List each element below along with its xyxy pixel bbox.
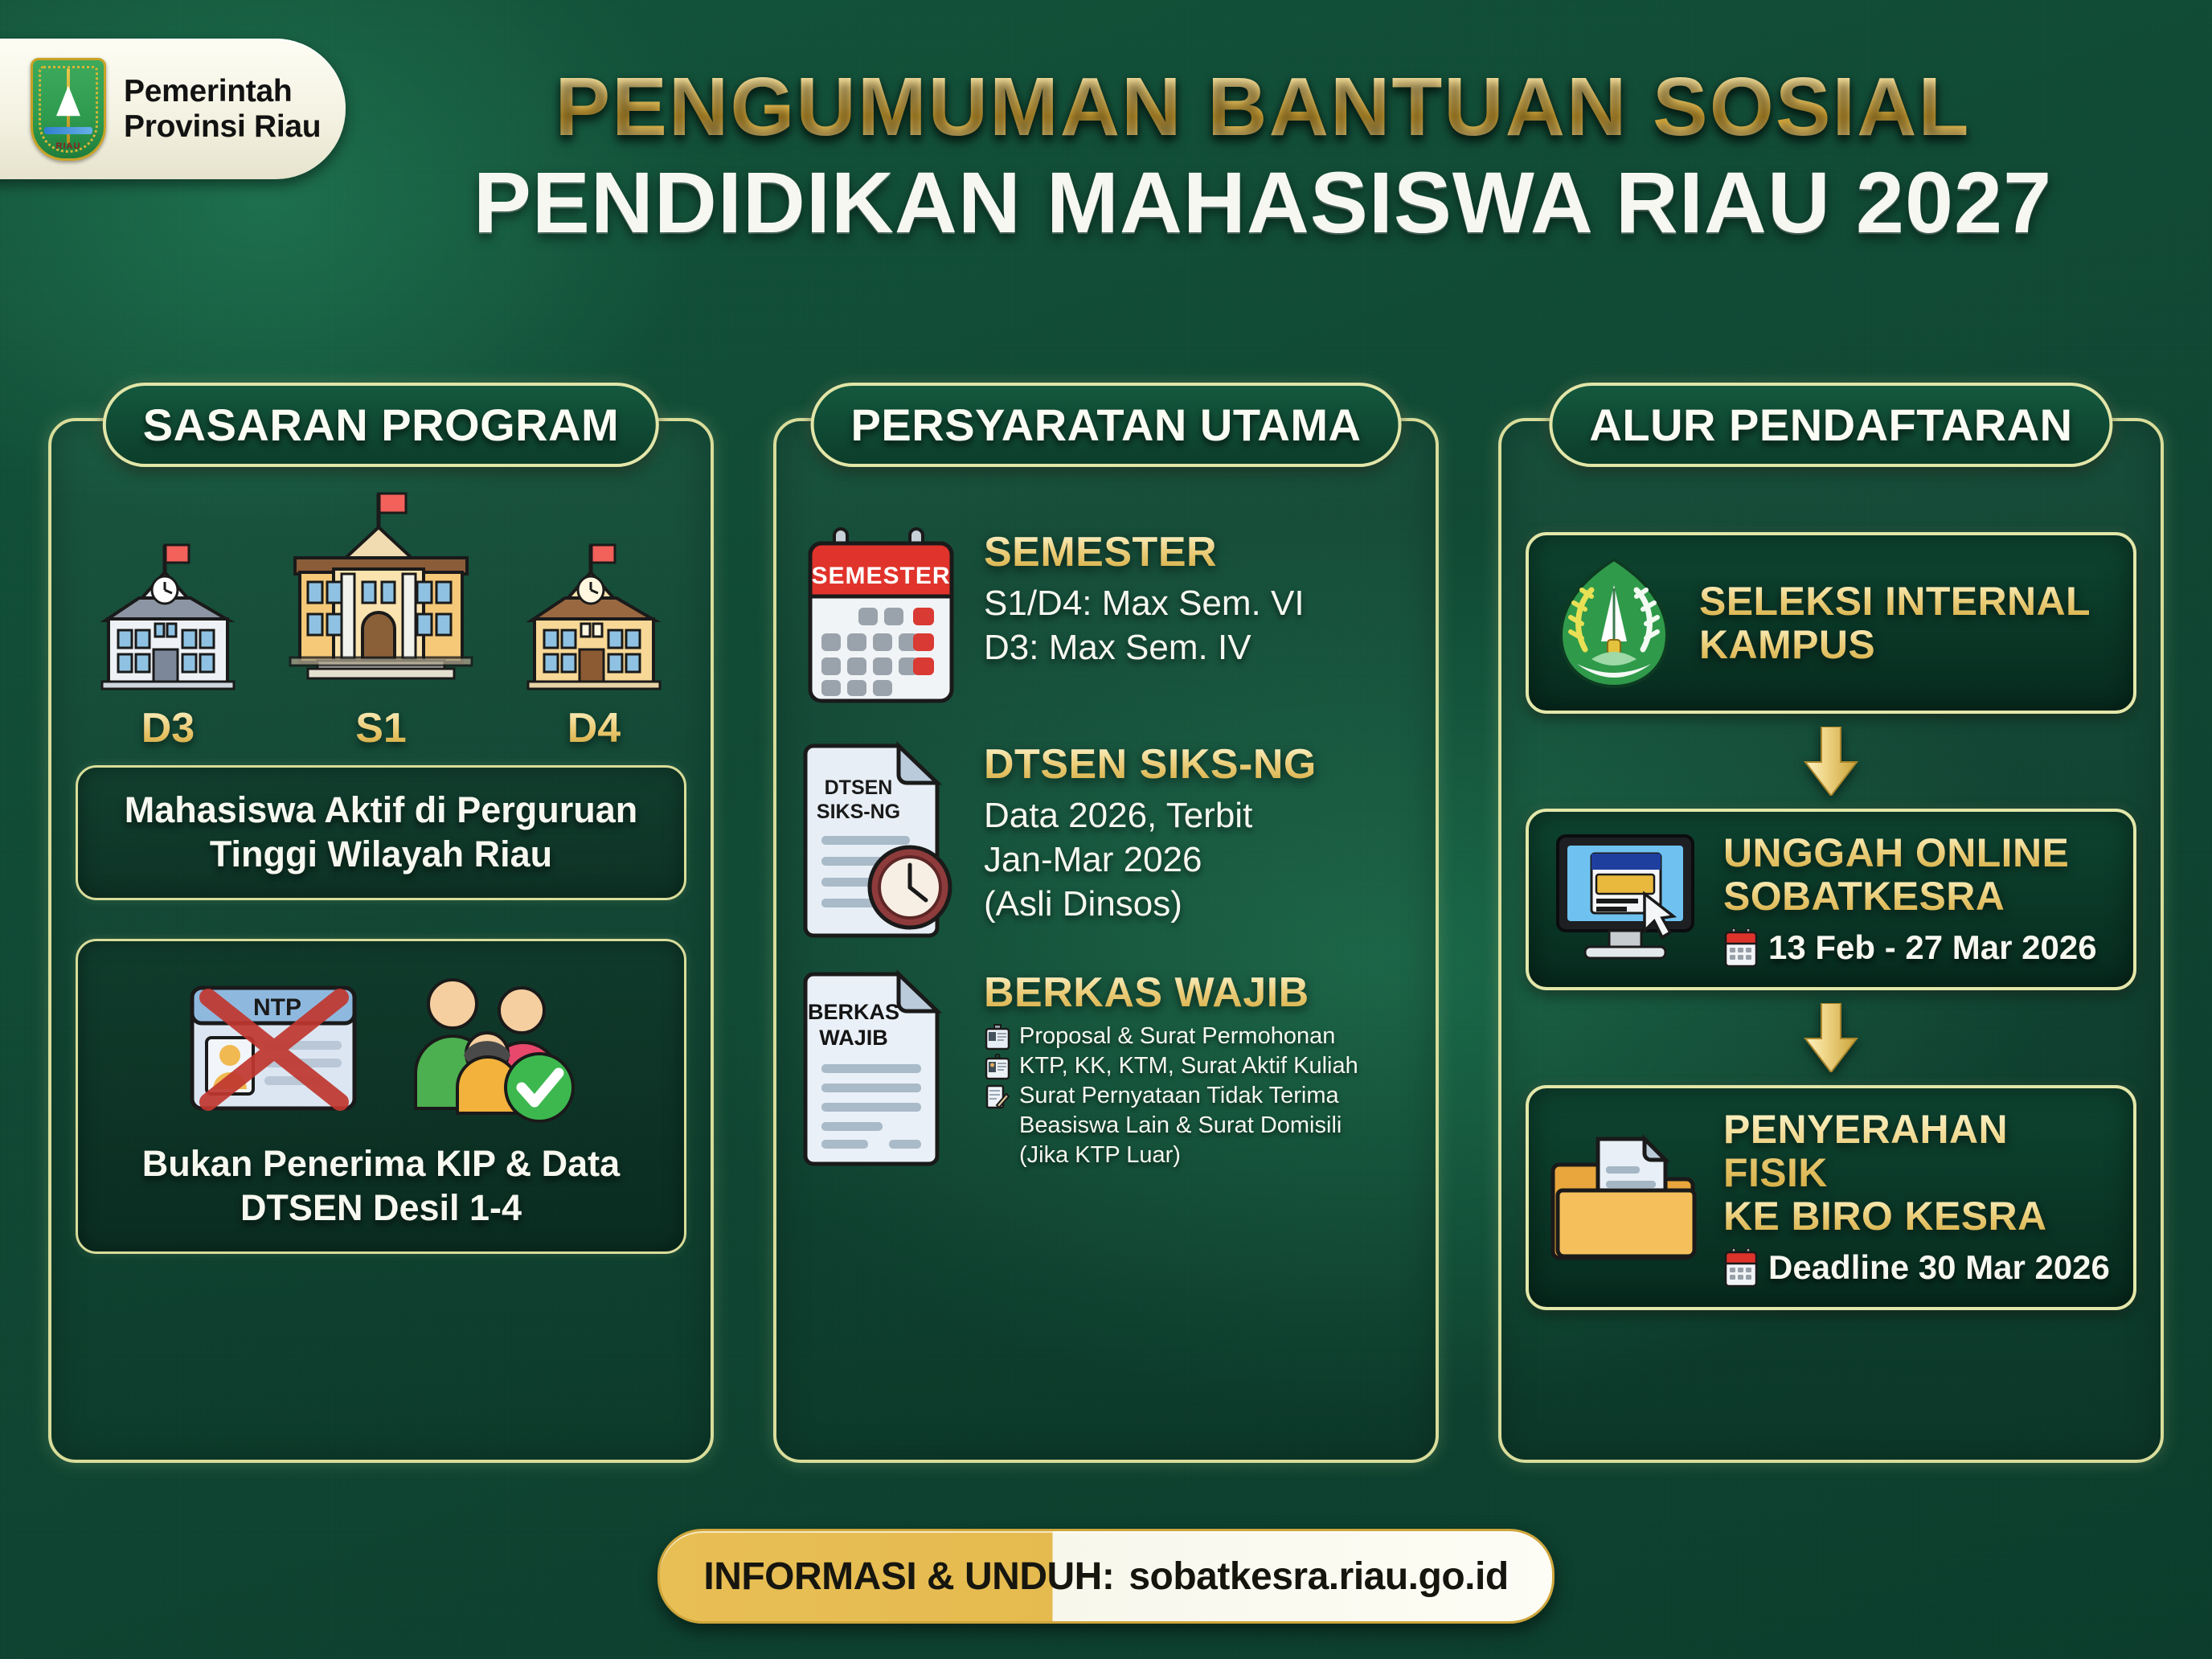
sasaran-box-eligibility: Mahasiswa Aktif di Perguruan Tinggi Wila… [76, 765, 686, 900]
kip-card-crossed-icon: NTP [181, 967, 366, 1128]
flow-step-3-date: Deadline 30 Mar 2026 [1768, 1248, 2110, 1287]
column-heading-persyaratan: PERSYARATAN UTAMA [811, 383, 1402, 467]
footer-url[interactable]: sobatkesra.riau.go.id [1129, 1555, 1508, 1599]
degree-item-s1: S1 [272, 492, 490, 752]
infographic-poster: RIAU Pemerintah Provinsi Riau PENGUMUMAN… [0, 0, 2212, 1659]
calendar-label: SEMESTER [811, 563, 950, 589]
degree-label-d3: D3 [141, 704, 195, 752]
sasaran-box-exclusion: NTP [76, 939, 686, 1254]
sasaran-box-eligibility-text: Mahasiswa Aktif di Perguruan Tinggi Wila… [96, 789, 666, 877]
poster-title-block: PENGUMUMAN BANTUAN SOSIAL PENDIDIKAN MAH… [346, 64, 2180, 247]
flow-step-penyerahan-fisik: PENYERAHAN FISIK KE BIRO KESRA [1526, 1085, 2136, 1310]
requirement-semester: SEMESTER [801, 526, 1411, 711]
arrow-down-icon [1800, 727, 1862, 796]
degree-item-d4: D4 [514, 540, 674, 752]
column-persyaratan-utama: PERSYARATAN UTAMA SEMESTER [773, 418, 1439, 1463]
columns-container: SASARAN PROGRAM [48, 418, 2164, 1463]
flow-step-1-title-1: SELEKSI INTERNAL [1699, 580, 2091, 623]
calendar-icon [1723, 1247, 1759, 1288]
monitor-upload-icon [1550, 831, 1702, 968]
berkas-bullet-2-text: KTP, KK, KTM, Surat Aktif Kuliah [1019, 1051, 1358, 1081]
sasaran-box-exclusion-text: Bukan Penerima KIP & Data DTSEN Desil 1-… [96, 1142, 666, 1231]
flow-step-3-title-1: PENYERAHAN FISIK [1723, 1108, 2112, 1194]
id-card-icon [984, 1024, 1011, 1051]
column-heading-alur: ALUR PENDAFTARAN [1549, 383, 2112, 467]
column-heading-sasaran: SASARAN PROGRAM [103, 383, 659, 467]
flow-step-1-title-2: KAMPUS [1699, 623, 2091, 666]
government-logo-badge: RIAU Pemerintah Provinsi Riau [0, 39, 346, 179]
flow-step-2-title-1: UNGGAH ONLINE [1723, 831, 2097, 875]
folder-document-icon [1550, 1129, 1702, 1266]
requirement-title-dtsen: DTSEN SIKS-NG [984, 743, 1317, 787]
calendar-icon: SEMESTER [801, 526, 961, 711]
crest-caption: RIAU [33, 141, 104, 151]
brand-line-2: Provinsi Riau [124, 109, 321, 145]
requirement-line-dtsen-2: Jan-Mar 2026 [984, 838, 1317, 882]
requirement-dtsen: DTSEN SIKS-NG DTSEN SIKS-NG Data 2026, T… [801, 738, 1411, 939]
flow-step-2-date-row: 13 Feb - 27 Mar 2026 [1723, 928, 2097, 968]
id-badge-icon [984, 1054, 1011, 1081]
brand-line-1: Pemerintah [124, 74, 321, 109]
degree-label-d4: D4 [567, 704, 621, 752]
dtsen-doc-label-1: DTSEN [825, 776, 893, 799]
requirement-line-dtsen-3: (Asli Dinsos) [984, 882, 1317, 926]
berkas-bullet-3: Surat Pernyataan Tidak Terima [984, 1081, 1358, 1111]
flow-step-2-date: 13 Feb - 27 Mar 2026 [1768, 928, 2097, 967]
requirement-title-semester: SEMESTER [984, 530, 1305, 575]
flow-step-2-title-2: SOBATKESRA [1723, 875, 2097, 918]
signed-letter-icon [984, 1083, 1011, 1111]
document-icon: BERKAS WAJIB [801, 966, 961, 1167]
berkas-continuation-2: (Jika KTP Luar) [984, 1141, 1358, 1170]
page-title-gold: PENGUMUMAN BANTUAN SOSIAL [346, 64, 2180, 149]
brand-text: Pemerintah Provinsi Riau [124, 74, 321, 144]
flow-step-unggah-online: UNGGAH ONLINE SOBATKESRA [1526, 809, 2136, 990]
school-building-icon [514, 540, 674, 693]
page-title-white: PENDIDIKAN MAHASISWA RIAU 2027 [346, 158, 2180, 247]
berkas-bullet-2: KTP, KK, KTM, Surat Aktif Kuliah [984, 1051, 1358, 1081]
berkas-bullet-1: Proposal & Surat Permohonan [984, 1022, 1358, 1051]
berkas-bullet-1-text: Proposal & Surat Permohonan [1019, 1022, 1335, 1051]
berkas-doc-label-1: BERKAS [808, 1000, 899, 1024]
flow-step-seleksi-internal: SELEKSI INTERNAL KAMPUS [1526, 532, 2136, 714]
footer-info-bar[interactable]: INFORMASI & UNDUH: sobatkesra.riau.go.id [657, 1529, 1555, 1624]
degree-label-s1: S1 [355, 704, 407, 752]
riau-emblem-icon [1550, 555, 1678, 691]
riau-coat-of-arms-icon: RIAU [31, 58, 106, 161]
requirement-line-dtsen-1: Data 2026, Terbit [984, 793, 1317, 838]
family-check-icon [396, 967, 581, 1128]
degree-levels-row: D3 [76, 519, 686, 752]
arrow-down-icon [1800, 1003, 1862, 1072]
dtsen-doc-label-2: SIKS-NG [817, 801, 900, 823]
requirement-line-d3: D3: Max Sem. IV [984, 625, 1305, 670]
column-sasaran-program: SASARAN PROGRAM [48, 418, 714, 1463]
school-building-icon [88, 540, 248, 693]
kip-card-label: NTP [253, 994, 301, 1021]
requirement-line-s1d4: S1/D4: Max Sem. VI [984, 581, 1305, 625]
calendar-icon [1723, 928, 1759, 968]
requirement-title-berkas: BERKAS WAJIB [984, 971, 1358, 1015]
requirement-berkas: BERKAS WAJIB BERKAS WAJIB [801, 966, 1411, 1170]
berkas-bullet-3-text: Surat Pernyataan Tidak Terima [1019, 1081, 1339, 1111]
flow-arrow-2 [1526, 1003, 2136, 1072]
berkas-continuation-1: Beasiswa Lain & Surat Domisili [984, 1111, 1358, 1141]
footer-label: INFORMASI & UNDUH: [703, 1555, 1114, 1599]
degree-item-d3: D3 [88, 540, 248, 752]
berkas-doc-label-2: WAJIB [819, 1026, 888, 1050]
document-clock-icon: DTSEN SIKS-NG [801, 738, 961, 939]
column-alur-pendaftaran: ALUR PENDAFTARAN [1498, 418, 2164, 1463]
flow-arrow-1 [1526, 727, 2136, 796]
flow-step-3-date-row: Deadline 30 Mar 2026 [1723, 1247, 2112, 1288]
university-building-icon [272, 492, 490, 693]
flow-step-3-title-2: KE BIRO KESRA [1723, 1194, 2112, 1238]
